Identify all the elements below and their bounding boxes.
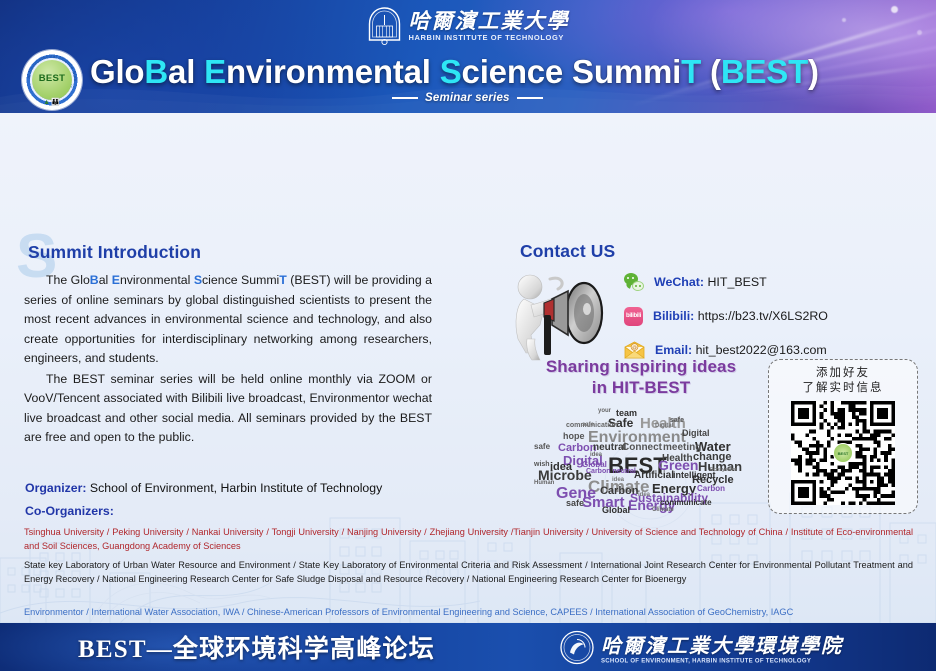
hit-logo-text: 哈爾濱工業大學 HARBIN INSTITUTE OF TECHNOLOGY	[409, 10, 570, 42]
word-cloud-term: your	[598, 408, 611, 414]
footer-title: BEST—全球环境科学高峰论坛	[78, 629, 435, 665]
hit-crest-icon	[367, 6, 403, 46]
title-segment: (	[701, 53, 721, 90]
poster-footer: BEST—全球环境科学高峰论坛 哈爾濱工業大學環境學院 SCHOOL OF EN…	[0, 623, 936, 671]
hit-logo-english: HARBIN INSTITUTE OF TECHNOLOGY	[409, 33, 565, 42]
word-cloud-term: team	[616, 408, 637, 418]
title-highlight-letter: BEST	[721, 53, 808, 90]
poster-subtitle-text: Seminar series	[425, 92, 510, 104]
qr-code-image[interactable]: BEST	[791, 401, 895, 505]
coorganizers-group-associations: Environmentor / International Water Asso…	[24, 606, 913, 620]
title-segment: cience Summi	[462, 53, 682, 90]
wechat-icon	[624, 273, 644, 291]
word-cloud-term: Ecosystem	[710, 467, 736, 473]
qr-caption: 添加好友 了解实时信息	[769, 366, 917, 396]
bilibili-text: Bilibili: https://b23.tv/X6LS2RO	[653, 309, 828, 323]
title-highlight-letter: E	[204, 53, 226, 90]
coorganizers-group-laboratories: State key Laboratory of Urban Water Reso…	[24, 559, 913, 586]
word-cloud-term: Digital	[682, 428, 710, 438]
word-cloud-term: safe	[582, 422, 594, 428]
hit-university-logo: 哈爾濱工業大學 HARBIN INSTITUTE OF TECHNOLOGY	[367, 4, 570, 48]
title-highlight-letter: B	[144, 53, 168, 90]
word-cloud-term: Human	[534, 480, 554, 486]
sharing-slogan-line2: in HIT-BEST	[592, 378, 690, 397]
contact-us-heading: Contact US	[520, 241, 615, 262]
page-title: GloBal Environmental Science SummiT (BES…	[90, 53, 819, 91]
intro-highlight-letter: S	[194, 273, 202, 287]
title-segment: al	[168, 53, 204, 90]
word-cloud-term: idea	[590, 452, 602, 458]
email-label: Email:	[655, 343, 692, 357]
word-cloud-term: Health	[662, 453, 693, 464]
hit-school-seal-icon	[560, 630, 594, 664]
header-dot	[891, 6, 898, 13]
word-cloud-term: Carbon	[697, 484, 725, 493]
sharing-slogan-line1: Sharing inspiring ideas	[546, 357, 736, 376]
email-value: hit_best2022@163.com	[696, 343, 827, 357]
wechat-value: HIT_BEST	[707, 275, 766, 289]
word-cloud-term: meeting	[663, 442, 701, 453]
poster-body: S Summit Introduction The GloBal Environ…	[0, 113, 936, 623]
title-segment: Glo	[90, 53, 144, 90]
intro-paragraph-2: The BEST seminar series will be held onl…	[24, 370, 432, 448]
intro-segment: cience Summi	[202, 273, 279, 287]
qr-caption-line1: 添加好友	[769, 366, 917, 381]
summit-introduction-text: The GloBal Environmental Science SummiT …	[24, 271, 432, 449]
poster-subtitle: Seminar series	[392, 92, 543, 104]
best-seal-figures-icon: ▲👪	[43, 98, 61, 106]
best-seal-inner: BEST	[32, 60, 72, 100]
contact-row-wechat[interactable]: WeChat: HIT_BEST	[624, 271, 828, 293]
title-segment: )	[808, 53, 819, 90]
megaphone-icon	[504, 265, 616, 363]
word-cloud-term: Artificial	[634, 470, 674, 481]
organizer-value: School of Environment, Harbin Institute …	[90, 481, 382, 495]
intro-paragraph-1: The GloBal Environmental Science SummiT …	[24, 271, 432, 369]
intro-segment: al	[99, 273, 112, 287]
email-text: Email: hit_best2022@163.com	[655, 343, 827, 357]
intro-highlight-letter: E	[112, 273, 120, 287]
word-cloud-term: Digital	[655, 423, 673, 429]
word-cloud-term: communicate	[660, 498, 712, 507]
bilibili-label: Bilibili:	[653, 309, 694, 323]
organizer-label: Organizer:	[25, 481, 87, 495]
intro-segment: The Glo	[46, 273, 90, 287]
summit-introduction-heading: Summit Introduction	[28, 242, 201, 263]
title-segment: nvironmental	[226, 53, 440, 90]
word-cloud-term: Climate	[652, 507, 674, 513]
poster-header: 哈爾濱工業大學 HARBIN INSTITUTE OF TECHNOLOGY G…	[0, 0, 936, 113]
word-cloud-term: safe	[534, 442, 550, 451]
svg-text:@: @	[632, 345, 637, 350]
word-cloud-term: hope	[563, 431, 585, 441]
header-dot	[917, 30, 922, 35]
best-seal-logo: GloBal Environmental Science SummiT Harb…	[22, 50, 82, 110]
word-cloud-term: idea	[612, 477, 624, 483]
word-cloud-term: Carbon neutral	[586, 468, 636, 475]
word-cloud-term: Global	[602, 505, 630, 515]
wechat-label: WeChat:	[654, 275, 704, 289]
organizer-line: Organizer: School of Environment, Harbin…	[25, 481, 455, 495]
word-cloud-term: Carbon	[600, 485, 639, 497]
poster-root: 哈爾濱工業大學 HARBIN INSTITUTE OF TECHNOLOGY G…	[0, 0, 936, 671]
bilibili-icon: bilibili	[624, 307, 643, 326]
intro-highlight-letter: B	[90, 273, 99, 287]
intro-segment: nvironmental	[120, 273, 194, 287]
word-cloud-term: Connect	[622, 442, 662, 453]
coorganizers-group-universities: Tsinghua University / Peking University …	[24, 526, 913, 553]
contact-row-bilibili[interactable]: bilibili Bilibili: https://b23.tv/X6LS2R…	[624, 305, 828, 327]
contact-rows: WeChat: HIT_BEST bilibili Bilibili: http…	[624, 271, 828, 361]
footer-school-logo: 哈爾濱工業大學環境學院 SCHOOL OF ENVIRONMENT, HARBI…	[560, 630, 843, 665]
footer-school-text: 哈爾濱工業大學環境學院 SCHOOL OF ENVIRONMENT, HARBI…	[601, 630, 843, 665]
title-highlight-letter: S	[440, 53, 462, 90]
word-cloud-term: idea	[638, 492, 650, 498]
coorganizers-label: Co-Organizers:	[25, 504, 114, 518]
word-cloud-term: safe	[566, 498, 584, 508]
intro-highlight-letter: T	[279, 273, 287, 287]
qr-center-badge: BEST	[833, 443, 853, 463]
word-cloud-term: idea	[550, 461, 572, 473]
title-highlight-letter: T	[681, 53, 701, 90]
header-dot	[842, 18, 846, 22]
sharing-slogan: Sharing inspiring ideas in HIT-BEST	[517, 356, 765, 398]
word-cloud: BESTEnvironmentClimateHealthMicrobeGeneG…	[530, 401, 762, 519]
wechat-text: WeChat: HIT_BEST	[654, 275, 767, 289]
word-cloud-term: wish	[534, 461, 550, 468]
qr-caption-line2: 了解实时信息	[769, 381, 917, 396]
footer-school-english: SCHOOL OF ENVIRONMENT, HARBIN INSTITUTE …	[601, 659, 843, 665]
hit-logo-chinese: 哈爾濱工業大學	[409, 10, 570, 32]
best-seal-label: BEST	[39, 73, 66, 84]
footer-school-chinese: 哈爾濱工業大學環境學院	[601, 630, 843, 659]
bilibili-value: https://b23.tv/X6LS2RO	[698, 309, 828, 323]
qr-code-card[interactable]: 添加好友 了解实时信息 BEST	[768, 359, 918, 514]
